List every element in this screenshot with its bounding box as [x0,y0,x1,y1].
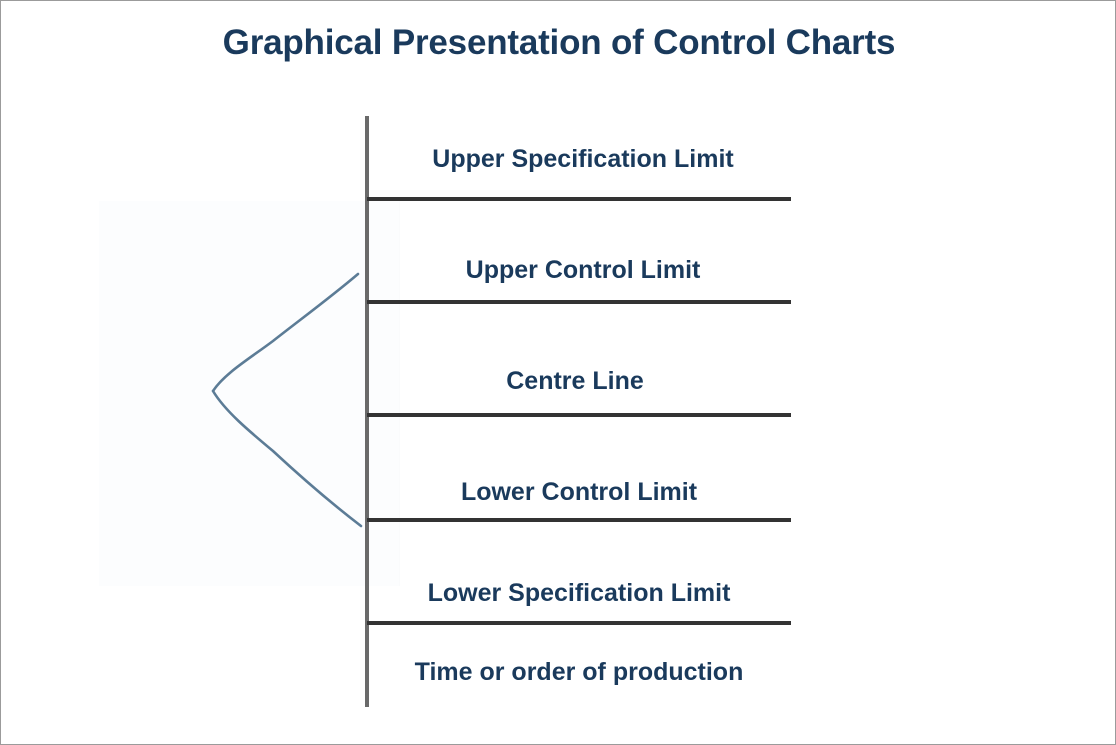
limit-line-lcl [367,518,791,522]
label-upper-control-limit: Upper Control Limit [466,256,701,285]
label-upper-specification-limit: Upper Specification Limit [432,145,733,174]
control-chart-diagram: Graphical Presentation of Control Charts… [0,0,1116,745]
page-title: Graphical Presentation of Control Charts [1,23,1116,63]
limit-line-lsl [367,621,791,625]
label-time-or-order-of-production: Time or order of production [415,658,744,687]
limit-line-usl [367,197,791,201]
limit-line-cl [367,413,791,417]
label-centre-line: Centre Line [506,367,644,396]
bell-curve-path [213,274,361,526]
background-artifact-rect [99,201,400,586]
label-lower-control-limit: Lower Control Limit [461,478,697,507]
limit-line-ucl [367,300,791,304]
label-lower-specification-limit: Lower Specification Limit [428,579,731,608]
vertical-axis [365,116,369,707]
